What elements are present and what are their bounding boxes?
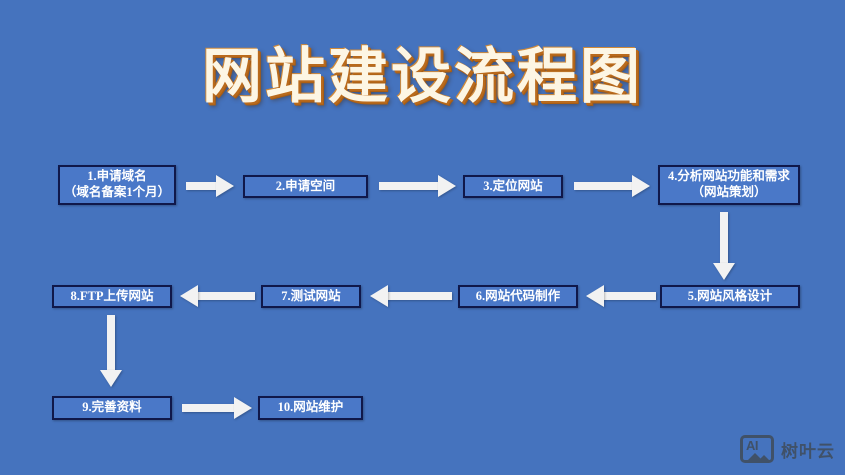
flow-node-2-line1: 2.申请空间 (276, 179, 335, 195)
connector-9-to-10 (182, 396, 252, 420)
flow-node-5[interactable]: 5.网站风格设计 (660, 285, 800, 308)
connector-7-to-8 (180, 285, 255, 307)
connector-2-to-3 (379, 175, 456, 197)
arrow-shaft (182, 404, 235, 412)
flow-node-1-line1: 1.申请域名 (87, 169, 146, 185)
flow-node-4-line2: （网站策划） (691, 185, 766, 201)
connector-4-to-5 (708, 212, 740, 280)
arrow-head (216, 175, 234, 197)
arrow-head (438, 175, 456, 197)
arrow-head (632, 175, 650, 197)
watermark: AI 树叶云 (740, 435, 835, 463)
arrow-head (234, 397, 252, 419)
flow-node-8-line1: 8.FTP上传网站 (71, 289, 154, 305)
flow-node-2[interactable]: 2.申请空间 (243, 175, 368, 198)
arrow-head (370, 285, 388, 307)
flow-node-3-line1: 3.定位网站 (483, 179, 542, 195)
arrow-head (180, 285, 198, 307)
arrow-shaft (379, 182, 439, 190)
arrow-head (713, 263, 735, 280)
arrow-shaft (186, 182, 217, 190)
arrow-head (586, 285, 604, 307)
flow-node-1[interactable]: 1.申请域名 （域名备案1个月） (58, 165, 176, 205)
flow-node-7[interactable]: 7.测试网站 (261, 285, 361, 308)
flow-node-10-line1: 10.网站维护 (278, 400, 344, 416)
mountain-shape-secondary (753, 455, 774, 463)
connector-8-to-9 (95, 315, 127, 387)
arrow-shaft (197, 292, 255, 300)
flow-node-4[interactable]: 4.分析网站功能和需求 （网站策划） (658, 165, 800, 205)
arrow-shaft (603, 292, 656, 300)
flow-node-9[interactable]: 9.完善资料 (52, 396, 172, 420)
flow-node-5-line1: 5.网站风格设计 (688, 289, 772, 305)
page-title: 网站建设流程图 (0, 28, 845, 115)
flow-node-9-line1: 9.完善资料 (82, 400, 141, 416)
arrow-shaft (107, 315, 115, 371)
arrow-shaft (720, 212, 728, 264)
ai-icon-label: AI (746, 438, 758, 453)
connector-1-to-2 (186, 175, 234, 197)
connector-3-to-4 (574, 175, 650, 197)
ai-image-icon: AI (740, 435, 774, 463)
connector-5-to-6 (586, 285, 656, 307)
flow-node-6-line1: 6.网站代码制作 (476, 289, 560, 305)
watermark-text: 树叶云 (781, 437, 835, 462)
flow-node-8[interactable]: 8.FTP上传网站 (52, 285, 172, 308)
arrow-shaft (574, 182, 633, 190)
flow-node-1-line2: （域名备案1个月） (64, 185, 170, 201)
arrow-head (100, 370, 122, 387)
flow-node-4-line1: 4.分析网站功能和需求 (668, 169, 790, 185)
flow-node-3[interactable]: 3.定位网站 (463, 175, 563, 198)
flow-node-7-line1: 7.测试网站 (281, 289, 340, 305)
connector-6-to-7 (370, 285, 452, 307)
slide-canvas: 网站建设流程图 1.申请域名 （域名备案1个月） 2.申请空间 3.定位网站 4… (0, 0, 845, 475)
flow-node-6[interactable]: 6.网站代码制作 (458, 285, 578, 308)
flow-node-10[interactable]: 10.网站维护 (258, 396, 363, 420)
arrow-shaft (387, 292, 452, 300)
